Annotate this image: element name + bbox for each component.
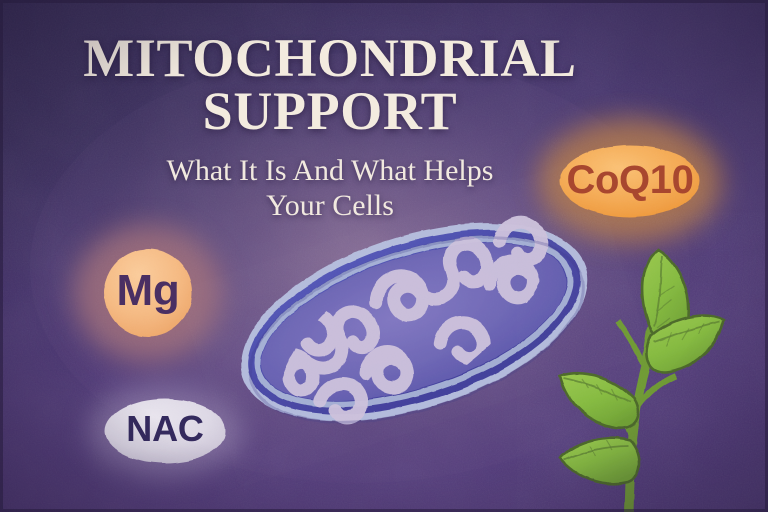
- molecule-bubbles: [0, 0, 768, 512]
- poster-canvas: MITOCHONDRIAL SUPPORT What It Is And Wha…: [0, 0, 768, 512]
